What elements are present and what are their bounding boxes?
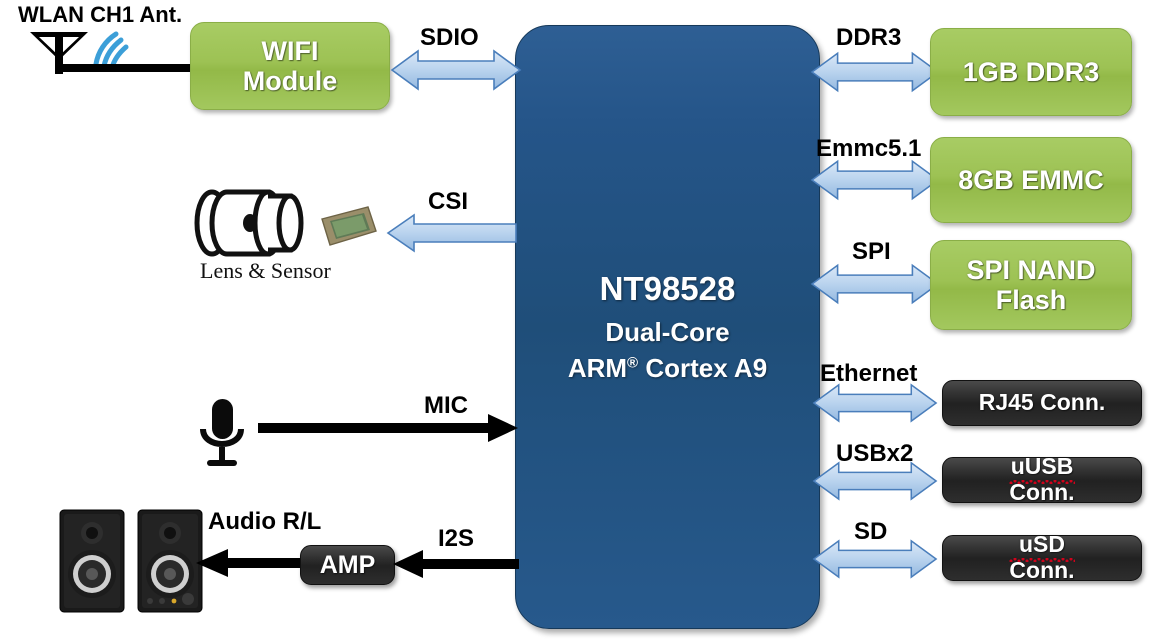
soc-arch-post: Cortex A9	[638, 353, 767, 383]
connector-block-uusb[interactable]: uUSB Conn.	[942, 457, 1142, 503]
antenna-label: WLAN CH1 Ant.	[18, 2, 182, 28]
connector-block-rj45-label: RJ45 Conn.	[979, 390, 1106, 416]
memory-block-spi-nand-line1: SPI NAND	[966, 255, 1095, 285]
camera-caption: Lens & Sensor	[200, 258, 331, 284]
memory-block-emmc[interactable]: 8GB EMMC	[930, 137, 1132, 223]
connector-block-usd-label: uSD Conn.	[1009, 532, 1074, 584]
wifi-module-line2: Module	[243, 66, 338, 96]
memory-block-emmc-label: 8GB EMMC	[958, 165, 1104, 195]
memory-block-spi-nand-line2: Flash	[996, 285, 1067, 315]
memory-block-ddr3-label: 1GB DDR3	[963, 57, 1100, 87]
bus-label-ddr3: DDR3	[836, 24, 901, 52]
audio-rl-label: Audio R/L	[208, 508, 321, 536]
bus-arrow-ethernet	[812, 382, 938, 424]
speaker-pair-icon	[58, 508, 208, 614]
soc-architecture: ARM® Cortex A9	[568, 353, 767, 384]
wifi-module-line1: WIFI	[262, 36, 319, 66]
block-diagram-canvas: NT98528 Dual-Core ARM® Cortex A9 WLAN CH…	[0, 0, 1160, 640]
bus-arrow-spi	[812, 262, 938, 306]
soc-core-type: Dual-Core	[605, 317, 729, 348]
antenna-feed-line	[56, 60, 196, 76]
soc-block-nt98528[interactable]: NT98528 Dual-Core ARM® Cortex A9	[515, 25, 820, 629]
sdio-arrow	[392, 48, 520, 92]
connector-block-rj45[interactable]: RJ45 Conn.	[942, 380, 1142, 426]
wifi-module-block[interactable]: WIFI Module	[190, 22, 390, 110]
mic-arrow	[258, 412, 518, 444]
misspelled-word-uusb: uUSB	[1009, 454, 1074, 480]
soc-name: NT98528	[600, 270, 736, 308]
camera-lens-icon	[190, 186, 306, 260]
registered-mark: ®	[627, 354, 638, 371]
bus-arrow-ddr3	[812, 50, 938, 94]
bus-arrow-usb	[812, 460, 938, 502]
misspelled-word-usd: uSD	[1009, 532, 1074, 558]
amp-block[interactable]: AMP	[300, 545, 395, 585]
memory-block-spi-nand[interactable]: SPI NAND Flash	[930, 240, 1132, 330]
csi-arrow	[388, 213, 516, 253]
memory-block-ddr3[interactable]: 1GB DDR3	[930, 28, 1132, 116]
bus-arrow-emmc	[812, 158, 938, 202]
bus-arrow-sd	[812, 538, 938, 580]
amp-label: AMP	[320, 551, 376, 579]
audio-out-arrow	[196, 545, 306, 581]
i2s-arrow	[393, 546, 519, 582]
connector-block-uusb-label: uUSB Conn.	[1009, 454, 1074, 506]
soc-arch-pre: ARM	[568, 353, 627, 383]
csi-label: CSI	[428, 188, 468, 216]
microphone-icon	[195, 397, 249, 469]
connector-block-usd[interactable]: uSD Conn.	[942, 535, 1142, 581]
image-sensor-icon	[318, 205, 380, 251]
